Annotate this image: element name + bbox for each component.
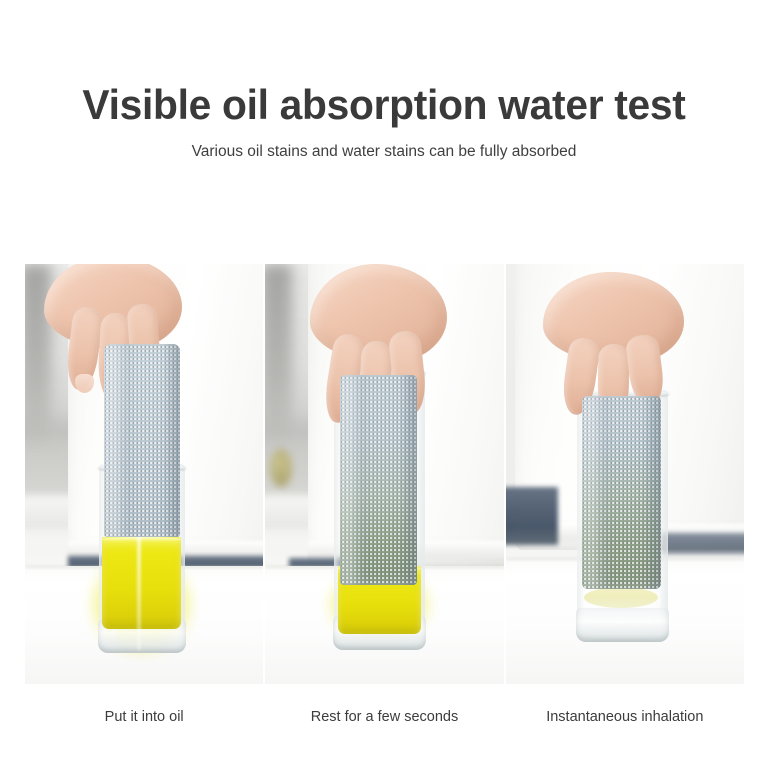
microfiber-cloth xyxy=(340,375,416,585)
caption-panel-2: Rest for a few seconds xyxy=(265,708,503,726)
microfiber-cloth xyxy=(104,344,180,537)
cloth-shading xyxy=(400,375,417,585)
page-title: Visible oil absorption water test xyxy=(12,0,757,128)
oil-liquid xyxy=(102,537,181,629)
background-cabinet-shadow xyxy=(265,264,291,440)
microfiber-cloth xyxy=(582,396,661,589)
page-subtitle: Various oil stains and water stains can … xyxy=(0,128,768,162)
demo-panels xyxy=(25,264,744,684)
cloth-fold xyxy=(589,396,609,589)
cloth-shading xyxy=(643,396,660,589)
demo-panel-1 xyxy=(25,264,263,684)
header: Visible oil absorption water test Variou… xyxy=(0,0,768,162)
demo-panel-3 xyxy=(506,264,744,684)
oil-surface xyxy=(102,537,181,542)
caption-panel-3: Instantaneous inhalation xyxy=(506,708,744,726)
cloth-fold xyxy=(111,344,131,537)
background-cabinet-shadow xyxy=(25,264,51,440)
background-counter-object xyxy=(270,449,291,487)
glass-base xyxy=(576,608,669,642)
cloth-shading xyxy=(163,344,180,537)
panel-captions: Put it into oil Rest for a few seconds I… xyxy=(25,708,744,726)
person-jeans xyxy=(663,533,744,554)
person-jeans xyxy=(506,487,558,546)
cloth-fold xyxy=(346,375,366,585)
demo-panel-2 xyxy=(265,264,503,684)
caption-panel-1: Put it into oil xyxy=(25,708,263,726)
